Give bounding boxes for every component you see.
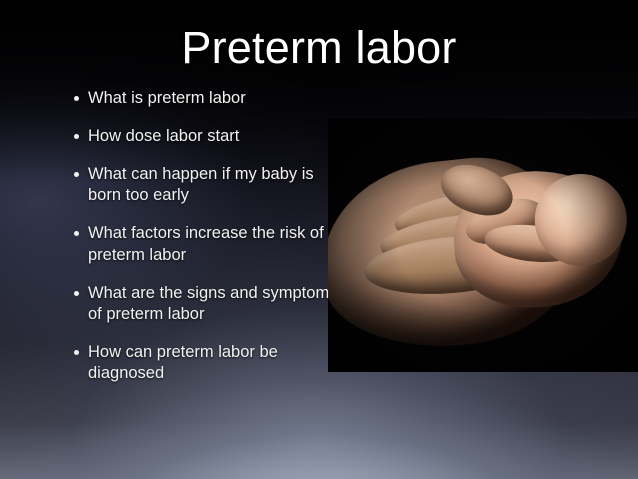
bullet-text: What are the signs and symptoms of prete… [88,283,342,325]
list-item: What factors increase the risk of preter… [74,223,342,265]
bullet-text: What is preterm labor [88,88,342,109]
list-item: How dose labor start [74,126,342,147]
bullet-dot-icon [74,172,79,177]
slide-title: Preterm labor [0,24,638,71]
bullet-list: What is preterm labor How dose labor sta… [74,88,342,384]
bullet-text: What can happen if my baby is born too e… [88,164,342,206]
list-item: How can preterm labor be diagnosed [74,342,342,384]
bullet-dot-icon [74,350,79,355]
bullet-text: What factors increase the risk of preter… [88,223,342,265]
list-item: What is preterm labor [74,88,342,109]
presentation-slide: Preterm labor What is preterm labor How … [0,0,638,479]
bullet-text: How dose labor start [88,126,342,147]
list-item: What can happen if my baby is born too e… [74,164,342,206]
list-item: What are the signs and symptoms of prete… [74,283,342,325]
bullet-dot-icon [74,134,79,139]
bullet-text: How can preterm labor be diagnosed [88,342,342,384]
slide-image-content [328,119,638,372]
bullet-dot-icon [74,231,79,236]
bullet-dot-icon [74,96,79,101]
slide-image [328,119,638,372]
bullet-dot-icon [74,291,79,296]
